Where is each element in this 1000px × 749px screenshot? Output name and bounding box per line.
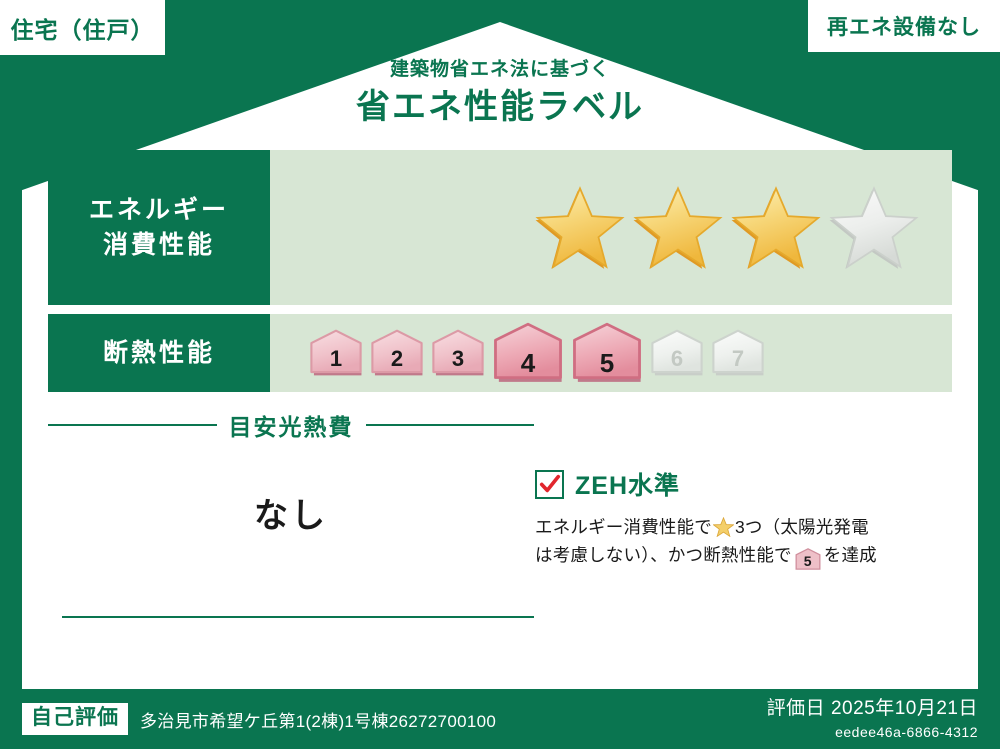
tab-building-type-label: 住宅（住戸） [11, 11, 155, 45]
energy-label-root: 住宅（住戸） 再エネ設備なし 建築物省エネ法に基づく 省エネ性能ラベル エネルギ… [0, 0, 1000, 749]
star-icon-filled [534, 184, 626, 272]
self-evaluation-badge: 自己評価 [22, 703, 128, 734]
label-title-block: 建築物省エネ法に基づく 省エネ性能ラベル [0, 58, 1000, 131]
utility-cost-heading-label: 目安光熱費 [229, 408, 354, 442]
insulation-level-label: 4 [521, 348, 535, 384]
star-icon-filled [632, 184, 724, 272]
property-address: 多治見市希望ケ丘第1(2棟)1号棟26272700100 [140, 707, 496, 732]
insulation-level-label: 1 [330, 346, 342, 377]
row-insulation-body: 1234567 [270, 314, 952, 392]
tab-renewable-energy: 再エネ設備なし [808, 0, 1000, 52]
utility-cost-heading: 目安光熱費 [48, 408, 534, 442]
insulation-level-7: 7 [710, 329, 766, 377]
star-icon-empty [828, 184, 920, 272]
insulation-level-label: 3 [452, 346, 464, 377]
insulation-level-3: 3 [430, 329, 486, 377]
heading-rule-right [366, 424, 535, 426]
row-energy-header: エネルギー 消費性能 [48, 150, 270, 305]
zeh-desc-part3: を達成 [824, 545, 877, 565]
label-footer: 自己評価 多治見市希望ケ丘第1(2棟)1号棟26272700100 評価日 20… [0, 689, 1000, 749]
insulation-level-label: 6 [671, 346, 683, 377]
zeh-description: エネルギー消費性能で 3つ（太陽光発電 は考慮しない）、かつ断熱性能で 5 を達… [535, 513, 955, 570]
star-icon-filled [730, 184, 822, 272]
star-rating [534, 184, 920, 272]
zeh-desc-part1: エネルギー消費性能で [535, 517, 712, 537]
row-insulation-header-label: 断熱性能 [103, 336, 215, 371]
insulation-level-6: 6 [649, 329, 705, 377]
heading-rule-left [48, 424, 217, 426]
zeh-heading: ZEH水準 [535, 466, 955, 502]
evaluation-date: 評価日 2025年10月21日 [767, 696, 978, 722]
zeh-title: ZEH水準 [575, 466, 680, 502]
footer-right: 評価日 2025年10月21日 eedee46a-6866-4312 [767, 696, 978, 743]
insulation-level-2: 2 [369, 329, 425, 377]
row-insulation-header: 断熱性能 [48, 314, 270, 392]
evaluation-id: eedee46a-6866-4312 [767, 723, 978, 742]
utility-cost-value: なし [48, 488, 534, 537]
insulation-badge-icon: 5 [795, 548, 821, 570]
tab-renewable-energy-label: 再エネ設備なし [827, 11, 981, 41]
tab-building-type: 住宅（住戸） [0, 0, 165, 55]
star-icon [713, 517, 734, 538]
performance-rows: エネルギー 消費性能 断熱性能 1234567 [48, 150, 952, 392]
page-title: 省エネ性能ラベル [0, 85, 1000, 131]
zeh-block: ZEH水準 エネルギー消費性能で 3つ（太陽光発電 は考慮しない）、かつ断熱性能… [535, 466, 955, 570]
insulation-level-label: 7 [732, 346, 744, 377]
zeh-checkbox[interactable] [535, 470, 564, 499]
insulation-level-label: 5 [600, 348, 614, 384]
insulation-level-5: 5 [570, 322, 644, 384]
zeh-desc-part2: は考慮しない）、かつ断熱性能で [535, 545, 792, 565]
insulation-level-label: 2 [391, 346, 403, 377]
title-subtitle: 建築物省エネ法に基づく [0, 58, 1000, 83]
insulation-level-4: 4 [491, 322, 565, 384]
footer-left: 自己評価 多治見市希望ケ丘第1(2棟)1号棟26272700100 [22, 703, 496, 734]
row-energy-body [270, 150, 952, 305]
insulation-badge-icon-label: 5 [804, 553, 812, 569]
check-icon [539, 473, 561, 495]
row-insulation-performance: 断熱性能 1234567 [48, 314, 952, 392]
zeh-desc-star-count: 3つ（太陽光発電 [735, 517, 869, 537]
utility-cost-bottom-rule [62, 616, 534, 618]
row-energy-performance: エネルギー 消費性能 [48, 150, 952, 305]
row-energy-header-line1: エネルギー [89, 193, 229, 228]
insulation-level-1: 1 [308, 329, 364, 377]
row-energy-header-line2: 消費性能 [103, 228, 215, 263]
